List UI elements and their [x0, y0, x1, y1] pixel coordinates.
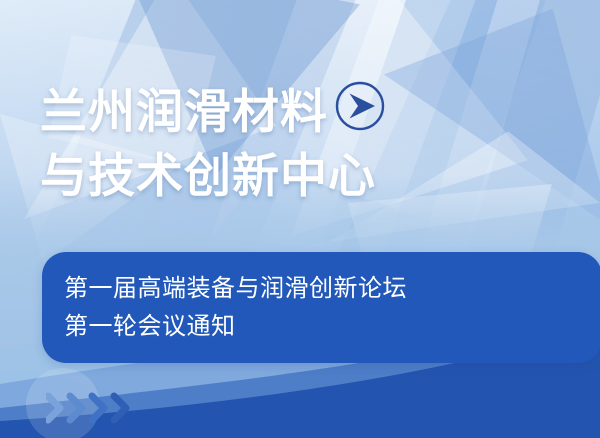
conference-poster: 兰州润滑材料 与技术创新中心 第一届高端装备与润滑创新论坛 第一轮会议通知 [0, 0, 600, 438]
poster-title: 兰州润滑材料 与技术创新中心 [40, 78, 560, 206]
chevron-right-icon-3 [92, 396, 104, 420]
chevron-right-icon-2 [70, 396, 82, 420]
event-panel-text: 第一届高端装备与润滑创新论坛 第一轮会议通知 [64, 270, 407, 346]
chevron-right-icon-4 [114, 396, 126, 420]
chevron-decoration-group [46, 392, 146, 424]
event-info-panel: 第一届高端装备与润滑创新论坛 第一轮会议通知 [42, 252, 600, 363]
event-line-1: 第一届高端装备与润滑创新论坛 [64, 270, 407, 308]
arrow-right-circle-icon [334, 80, 386, 146]
title-line-1-row: 兰州润滑材料 [40, 78, 560, 146]
title-line-2: 与技术创新中心 [40, 146, 560, 206]
title-line-1: 兰州润滑材料 [40, 82, 328, 142]
chevron-right-icon-1 [48, 396, 60, 420]
event-line-2: 第一轮会议通知 [64, 308, 407, 346]
